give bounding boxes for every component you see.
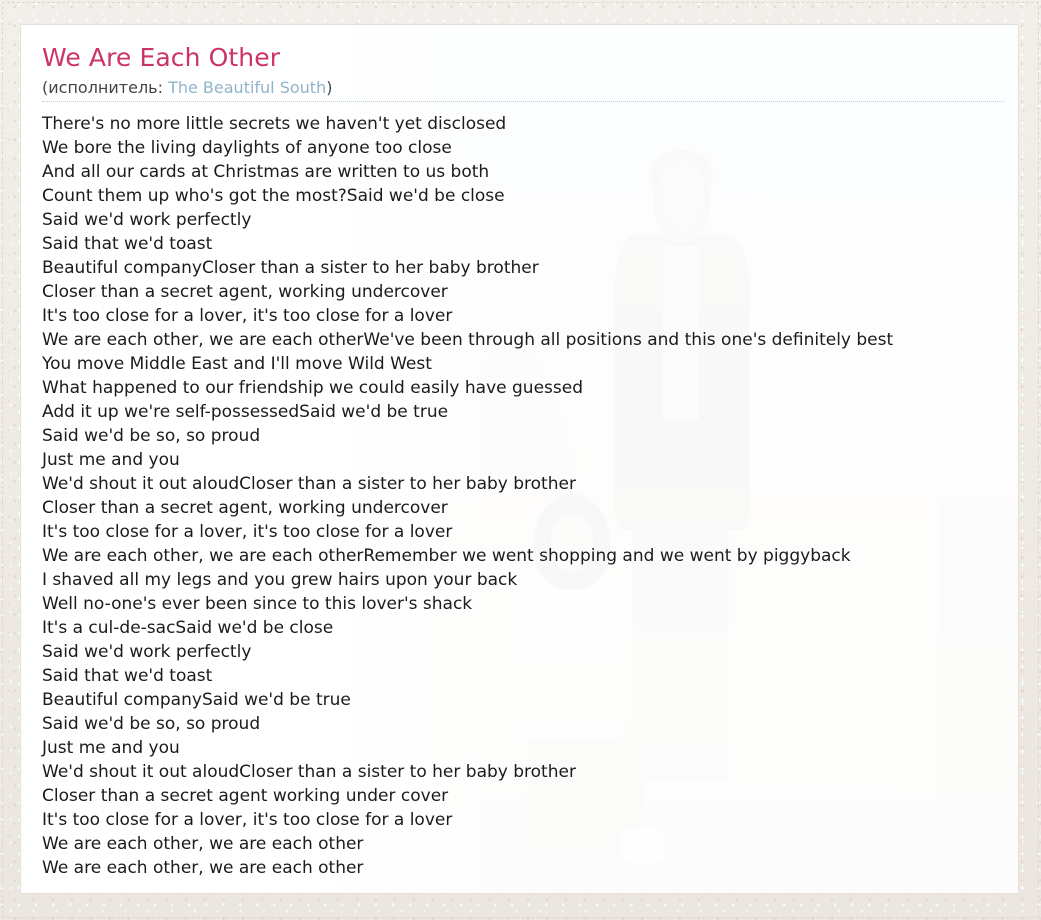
lyric-line: It's too close for a lover, it's too clo… <box>42 304 1018 328</box>
lyric-line: We'd shout it out aloudCloser than a sis… <box>42 760 1018 784</box>
lyrics-content-panel: We Are Each Other (исполнитель: The Beau… <box>20 24 1019 894</box>
lyric-line: Add it up we're self-possessedSaid we'd … <box>42 400 1018 424</box>
lyric-line: Just me and you <box>42 448 1018 472</box>
lyric-line: Said we'd work perfectly <box>42 208 1018 232</box>
artist-prefix-label: (исполнитель: <box>42 78 168 97</box>
lyric-line: You move Middle East and I'll move Wild … <box>42 352 1018 376</box>
lyric-line: We are each other, we are each otherWe'v… <box>42 328 1018 352</box>
lyric-line: Beautiful companyCloser than a sister to… <box>42 256 1018 280</box>
lyric-line: And all our cards at Christmas are writt… <box>42 160 1018 184</box>
lyrics-text-layer: We Are Each Other (исполнитель: The Beau… <box>21 25 1018 880</box>
lyric-line: Said we'd be so, so proud <box>42 712 1018 736</box>
lyric-line: Just me and you <box>42 736 1018 760</box>
artist-suffix-label: ) <box>326 78 332 97</box>
lyric-line: What happened to our friendship we could… <box>42 376 1018 400</box>
page-background: We Are Each Other (исполнитель: The Beau… <box>0 0 1041 920</box>
title-separator-rule <box>42 101 1004 102</box>
lyric-line: Closer than a secret agent, working unde… <box>42 280 1018 304</box>
lyric-line: Closer than a secret agent working under… <box>42 784 1018 808</box>
lyric-line: It's a cul-de-sacSaid we'd be close <box>42 616 1018 640</box>
lyric-line: Said that we'd toast <box>42 232 1018 256</box>
lyric-line: Said we'd work perfectly <box>42 640 1018 664</box>
lyric-line: Well no-one's ever been since to this lo… <box>42 592 1018 616</box>
lyric-line: Said that we'd toast <box>42 664 1018 688</box>
artist-line: (исполнитель: The Beautiful South) <box>42 77 1018 98</box>
lyrics-body: There's no more little secrets we haven'… <box>42 112 1018 880</box>
lyric-line: It's too close for a lover, it's too clo… <box>42 520 1018 544</box>
lyric-line: We bore the living daylights of anyone t… <box>42 136 1018 160</box>
lyric-line: I shaved all my legs and you grew hairs … <box>42 568 1018 592</box>
lyric-line: We are each other, we are each other <box>42 856 1018 880</box>
lyric-line: We are each other, we are each otherReme… <box>42 544 1018 568</box>
lyric-line: Count them up who's got the most?Said we… <box>42 184 1018 208</box>
page-title: We Are Each Other <box>42 43 1018 73</box>
lyric-line: There's no more little secrets we haven'… <box>42 112 1018 136</box>
lyric-line: Said we'd be so, so proud <box>42 424 1018 448</box>
artist-link[interactable]: The Beautiful South <box>168 78 326 97</box>
lyric-line: It's too close for a lover, it's too clo… <box>42 808 1018 832</box>
lyric-line: We are each other, we are each other <box>42 832 1018 856</box>
lyric-line: Closer than a secret agent, working unde… <box>42 496 1018 520</box>
lyric-line: We'd shout it out aloudCloser than a sis… <box>42 472 1018 496</box>
lyric-line: Beautiful companySaid we'd be true <box>42 688 1018 712</box>
